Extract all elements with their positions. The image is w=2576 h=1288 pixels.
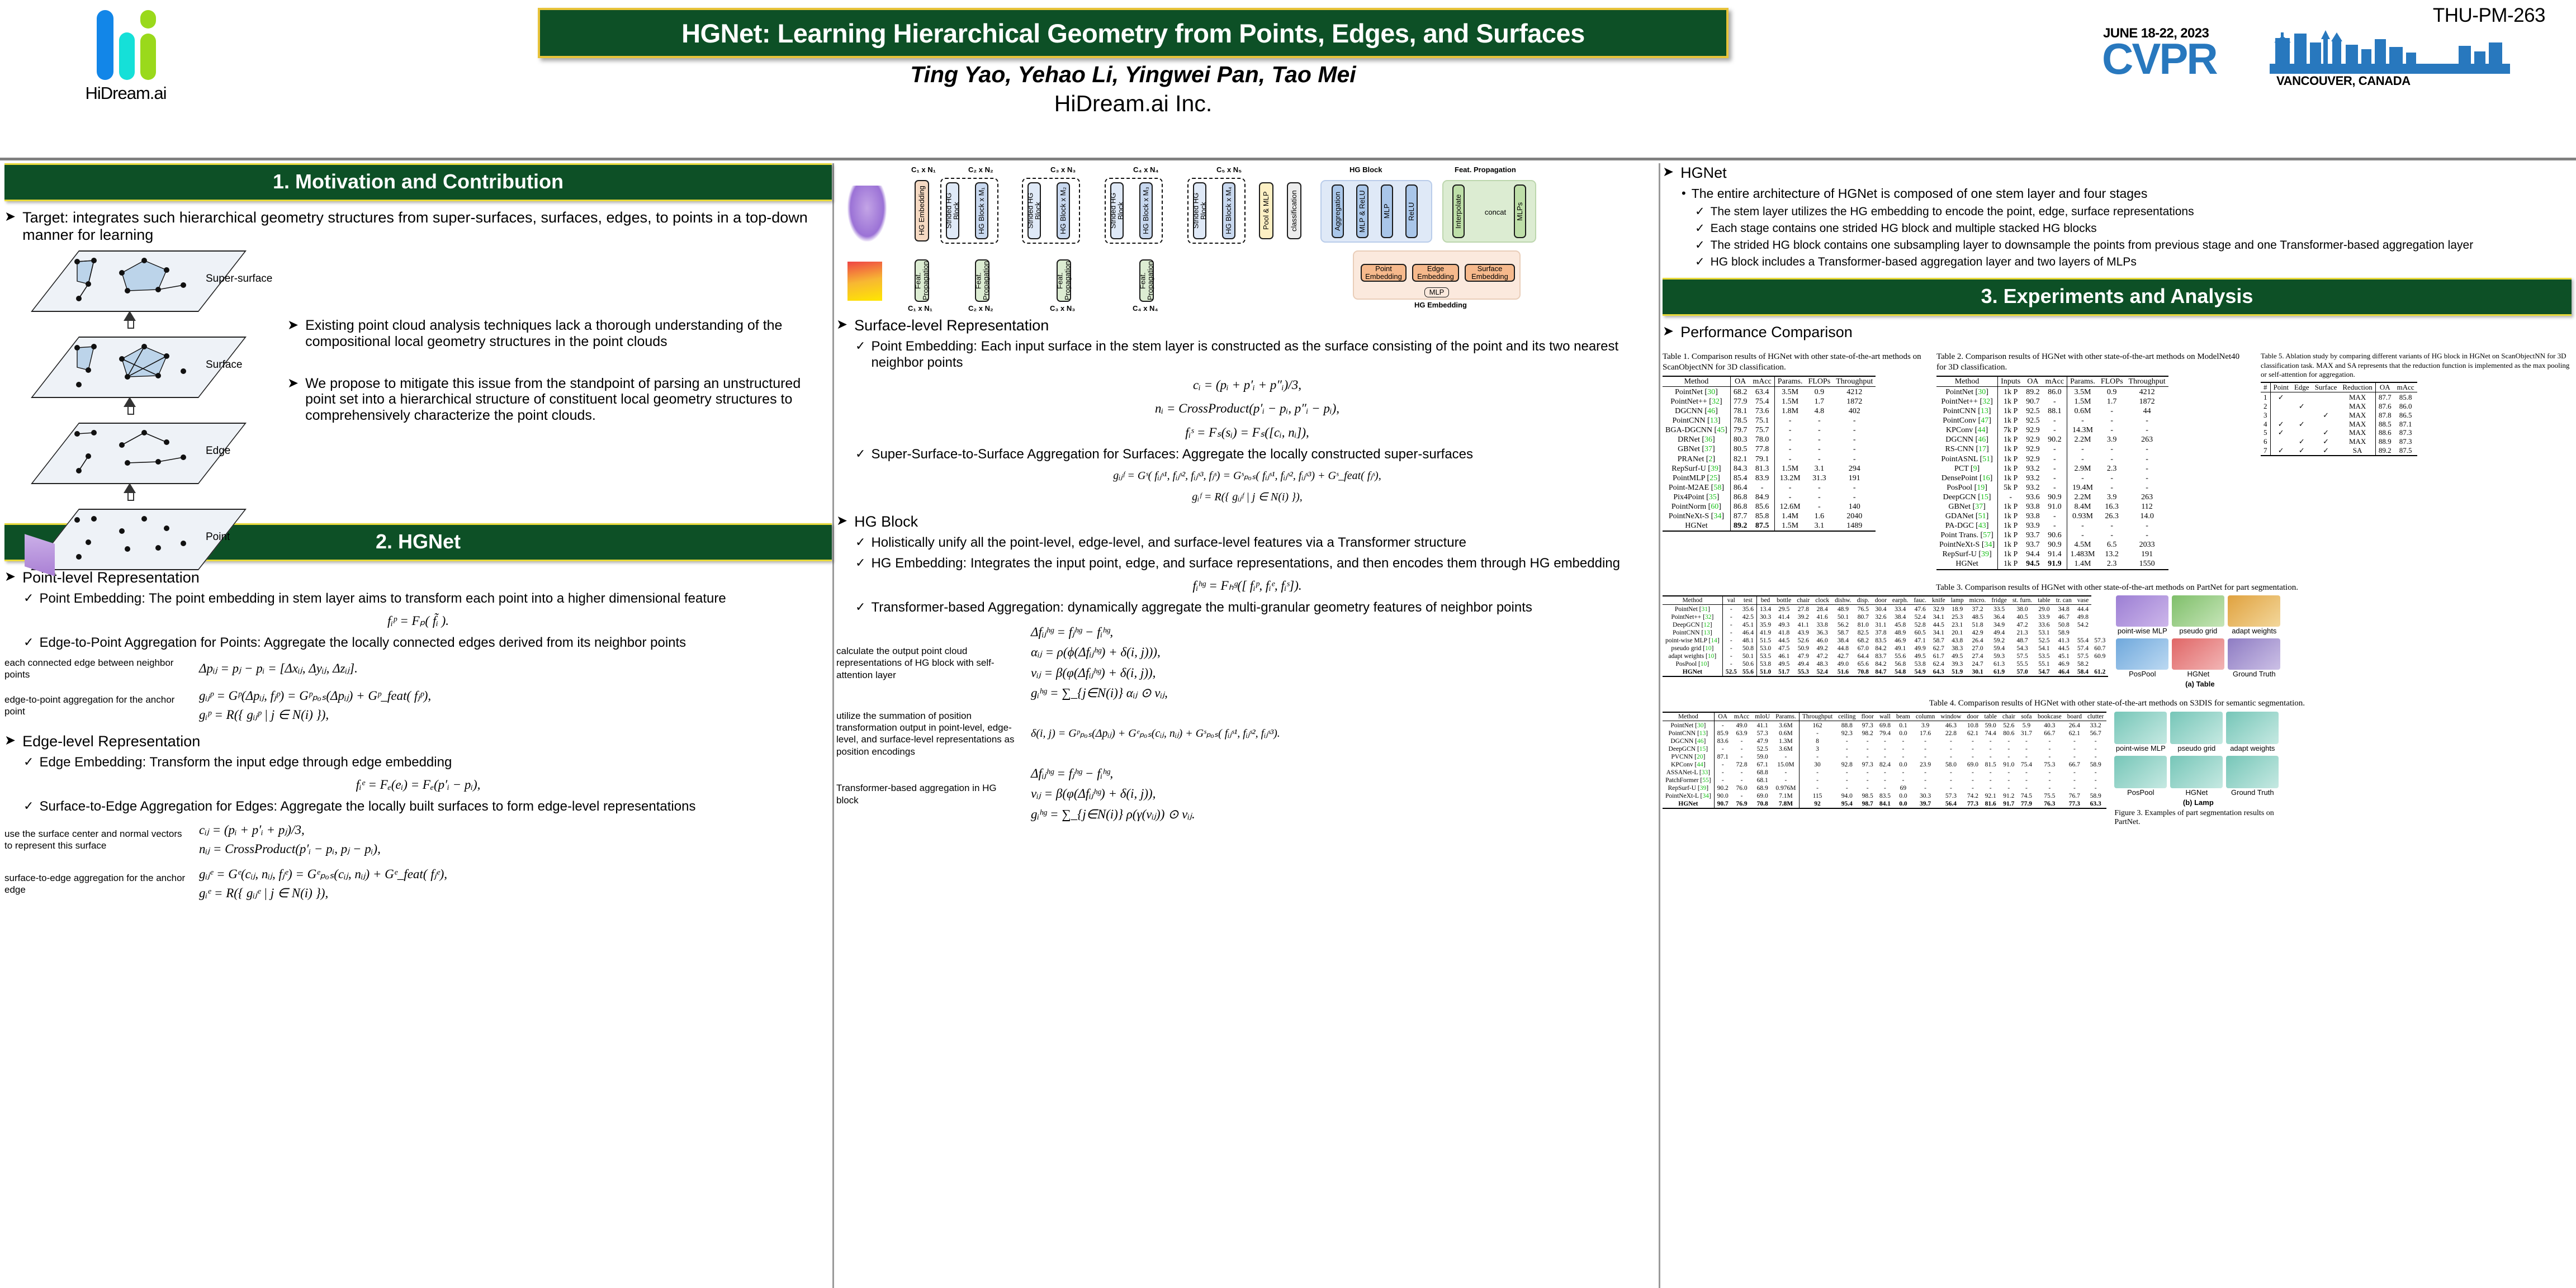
- arrow-bullet-icon: ➤: [1663, 164, 1674, 182]
- annotation-surface-to-edge-agg: surface-to-edge aggregation for the anch…: [4, 872, 189, 896]
- bullet-each-stage: ✓ Each stage contains one strided HG blo…: [1695, 221, 2572, 235]
- table-row: 1✓MAX87.785.8: [2261, 392, 2417, 402]
- table-row: KPConv [44]7k P92.9-14.3M--: [1936, 425, 2168, 435]
- equation-row-surface-center: use the surface center and normal vector…: [4, 821, 832, 859]
- table-row: PCT [9]1k P93.2-2.9M2.3-: [1936, 464, 2168, 473]
- logo-label: HiDream.ai: [53, 83, 198, 103]
- table-row: RepSurf-U [39]90.276.068.90.976M----69--…: [1663, 784, 2106, 792]
- table-row: RepSurf-U [39]1k P94.491.41.483M13.2191: [1936, 550, 2168, 559]
- logo-bar-blue: [97, 10, 113, 80]
- arch-strided-3: Strided HG Block: [1110, 182, 1124, 239]
- annotation-edge-to-point-agg: edge-to-point aggregation for the anchor…: [4, 694, 189, 718]
- up-arrow-2-icon: [127, 406, 134, 415]
- bullet-hgnet-text: HGNet: [1680, 164, 1727, 182]
- arch-featprop-2: Feat. Propagation: [975, 259, 989, 302]
- bullet-point-level: ➤ Point-level Representation: [4, 569, 832, 586]
- arch-cap-bot-2: C₂ x N₂: [968, 304, 993, 312]
- equation-b3: gᵢʰᵍ = ∑_{j∈N(i)} ρ(γ(vᵢⱼ)) ⊙ vᵢⱼ.: [1031, 805, 1195, 825]
- partseg-figure-lamp: point-wise MLP pseudo grid adapt weights…: [2114, 712, 2282, 827]
- logo-bar-green: [140, 34, 156, 80]
- arch-classification: classification: [1287, 182, 1301, 239]
- table-row: PointNet++ [32]1k P90.7-1.5M1.71872: [1936, 397, 2168, 406]
- bullet-existing-text: Existing point cloud analysis techniques…: [305, 318, 832, 350]
- table2-wrapper: Table 2. Comparison results of HGNet wit…: [1936, 350, 2250, 570]
- page-title: HGNet: Learning Hierarchical Geometry fr…: [681, 18, 1585, 49]
- arch-detail-interpolate: Interpolate: [1452, 184, 1465, 238]
- bullet-target-text: Target: integrates such hierarchical geo…: [22, 209, 832, 244]
- bullet-stem-layer: ✓ The stem layer utilizes the HG embeddi…: [1695, 205, 2572, 219]
- table-row: 7✓✓✓SA89.287.5: [2261, 446, 2417, 456]
- bullet-hg-embedding: ✓ HG Embedding: Integrates the input poi…: [855, 556, 1658, 572]
- arrow-bullet-icon: ➤: [1663, 324, 1674, 341]
- bullet-surface-level: ➤ Surface-level Representation: [836, 317, 1658, 334]
- equation-gij-f: gᵢⱼᶠ = Gˢ( fᵢⱼˢ¹, fᵢⱼˢ², fᵢⱼˢ³, fⱼˢ) = G…: [836, 467, 1658, 484]
- table-row: PointCNN [13]78.575.1---: [1663, 416, 1876, 425]
- partfig-row-label-2: HGNet: [2172, 670, 2224, 678]
- equation-ni: nᵢ = CrossProduct(p′ᵢ − pᵢ, p″ᵢ − pᵢ),: [836, 399, 1658, 419]
- arch-cap-top-5: C₅ x N₅: [1216, 165, 1242, 174]
- arch-strided-4: Strided HG Block: [1193, 182, 1206, 239]
- equation-row-surface-to-edge-agg: surface-to-edge aggregation for the anch…: [4, 865, 832, 903]
- equation-fis: fᵢˢ = Fₛ(sᵢ) = Fₛ([cᵢ, nᵢ]),: [836, 423, 1658, 443]
- table3-wrapper: Table 3. Comparison results of HGNet wit…: [1663, 583, 2572, 689]
- table-row: PointCNN [13]1k P92.588.10.6M-44: [1936, 406, 2168, 416]
- table-row: point-wise MLP [14]-48.151.544.552.646.0…: [1663, 637, 2108, 645]
- logo-bar-cyan: [119, 32, 135, 80]
- column-divider-2: [1659, 163, 1660, 1288]
- table-row: DeepGCN [15]--52.53.6M3-------------: [1663, 745, 2106, 753]
- table-row: PatchFormer [55]--68.1---------------: [1663, 776, 2106, 784]
- arch-point-embedding: Point Embedding: [1361, 264, 1407, 282]
- point-cloud-icon: [55, 509, 228, 571]
- table-row: 5✓✓MAX88.687.3: [2261, 428, 2417, 437]
- table-row: PointNet [30]1k P89.286.03.5M0.94212: [1936, 387, 2168, 397]
- bullet-point-embedding-text: Point Embedding: The point embedding in …: [39, 591, 726, 607]
- check-bullet-icon: ✓: [855, 600, 865, 616]
- arch-detail-mlp: MLP: [1381, 184, 1393, 238]
- check-bullet-icon: ✓: [23, 799, 34, 815]
- partseg-figure: point-wise MLP pseudo grid adapt weights…: [2116, 595, 2284, 688]
- column-2: C₁ x N₁ C₂ x N₂ C₃ x N₃ C₄ x N₄ C₅ x N₅ …: [836, 163, 1658, 831]
- bullet-transformer-agg: ✓ Transformer-based Aggregation: dynamic…: [855, 600, 1658, 616]
- table-row: PointNeXt-L [34]90.0-69.07.1M11594.098.5…: [1663, 792, 2106, 800]
- arch-featprop-3: Feat. Propagation: [1057, 259, 1071, 302]
- table-row: 3✓MAX87.886.5: [2261, 411, 2417, 420]
- bullet-super-to-surface-text: Super-Surface-to-Surface Aggregation for…: [871, 447, 1473, 463]
- arch-featprop-4: Feat. Propagation: [1139, 259, 1154, 302]
- section-header-experiments: 3. Experiments and Analysis: [1663, 278, 2572, 316]
- table-row: PRANet [2]82.179.1---: [1663, 454, 1876, 464]
- partfig2-row-label-3: Ground Truth: [2226, 788, 2279, 797]
- arch-cap-top-1: C₁ x N₁: [911, 165, 936, 174]
- bullet-edge-embedding: ✓ Edge Embedding: Transform the input ed…: [23, 755, 832, 771]
- equation-t4: gᵢʰᵍ = ∑_{j∈N(i)} αᵢⱼ ⊙ vᵢⱼ,: [1031, 684, 1168, 703]
- bullet-strided-block: ✓ The strided HG block contains one subs…: [1695, 238, 2572, 252]
- table-row: PA-DGC [43]1k P93.9----: [1936, 521, 2168, 531]
- table-row: DGCNN [46]78.173.61.8M4.8402: [1663, 406, 1876, 416]
- equation-row-hgblock-agg: Transformer-based aggregation in HG bloc…: [836, 763, 1658, 826]
- bullet-hgnet-arch: • The entire architecture of HGNet is co…: [1682, 186, 2572, 202]
- check-bullet-icon: ✓: [23, 591, 34, 607]
- architecture-figure: C₁ x N₁ C₂ x N₂ C₃ x N₃ C₄ x N₄ C₅ x N₅ …: [836, 165, 1647, 308]
- partfig-col-label-2: pseudo grid: [2172, 627, 2224, 635]
- bullet-existing: ➤ Existing point cloud analysis techniqu…: [287, 318, 832, 350]
- table-row: RepSurf-U [39]84.381.31.5M3.1294: [1663, 464, 1876, 473]
- partfig-row-label-1: PosPool: [2116, 670, 2168, 678]
- partfig-col-label-1: point-wise MLP: [2116, 627, 2168, 635]
- table-row: GBNet [37]1k P93.891.08.4M16.3112: [1936, 502, 2168, 512]
- partfig-row-label-3: Ground Truth: [2228, 670, 2280, 678]
- table1: MethodOAmAccParams.FLOPsThroughputPointN…: [1663, 376, 1876, 532]
- table-row: PointNet++ [32]77.975.41.5M1.71872: [1663, 397, 1876, 406]
- table1-caption: Table 1. Comparison results of HGNet wit…: [1663, 352, 1925, 373]
- equation-fhg: fᵢʰᵍ = Fₕᵍ([ fᵢᵖ, fᵢᵉ, fᵢˢ]).: [836, 576, 1658, 596]
- table5-wrapper: Table 5. Ablation study by comparing dif…: [2261, 350, 2572, 456]
- check-bullet-icon: ✓: [23, 635, 34, 651]
- figure3-caption: Figure 3. Examples of part segmentation …: [2114, 809, 2282, 827]
- logo-dot-green: [140, 10, 156, 29]
- arrow-bullet-icon: ➤: [836, 317, 847, 334]
- equation-point-embedding: fᵢᵖ = Fₚ( f̃ᵢ ).: [4, 612, 832, 631]
- arch-featprop-1: Feat. Propagation: [915, 259, 929, 302]
- partfig2-col-label-2: pseudo grid: [2170, 744, 2223, 752]
- skyline-icon: [2270, 30, 2510, 74]
- table-row: RS-CNN [17]1k P92.9----: [1936, 444, 2168, 454]
- table-row: HGNet1k P94.591.91.4M2.31550: [1936, 559, 2168, 569]
- arrow-bullet-icon: ➤: [287, 318, 299, 350]
- arch-detail-mlps: MLPs: [1514, 184, 1526, 238]
- bullet-strided-block-text: The strided HG block contains one subsam…: [1711, 238, 2474, 252]
- check-bullet-icon: ✓: [1695, 238, 1705, 252]
- arch-cap-top-2: C₂ x N₂: [968, 165, 993, 174]
- table-row: PosPool [10]-50.653.849.549.448.349.065.…: [1663, 660, 2108, 668]
- bullet-hg-block: ➤ HG Block: [836, 513, 1658, 531]
- table-row: DensePoint [16]1k P93.2----: [1936, 473, 2168, 483]
- table-row: PointNorm [60]86.885.612.6M-140: [1663, 502, 1876, 512]
- section-header-motivation: 1. Motivation and Contribution: [4, 163, 832, 201]
- check-bullet-icon: ✓: [1695, 205, 1705, 219]
- partfig-sub-a: (a) Table: [2116, 680, 2284, 688]
- table-row: 2✓MAX87.686.0: [2261, 402, 2417, 411]
- dot-bullet-icon: •: [1682, 186, 1686, 202]
- equation-delta-ij: δ(i, j) = Gᵖₚₒₛ(Δpᵢⱼ) + Gᵉₚₒₛ(cᵢⱼ, nᵢⱼ) …: [1031, 725, 1658, 742]
- annotation-hgblock-agg: Transformer-based aggregation in HG bloc…: [836, 782, 1021, 806]
- equation-nij: nᵢⱼ = CrossProduct(p′ᵢ − pᵢ, pⱼ − pᵢ),: [199, 840, 381, 859]
- table-row: PointNet [30]-49.041.13.6M16288.897.369.…: [1663, 721, 2106, 730]
- annotation-selfattention: calculate the output point cloud represe…: [836, 645, 1021, 681]
- arch-detail-relu: ReLU: [1405, 184, 1418, 238]
- cvpr-city: VANCOUVER, CANADA: [2276, 74, 2411, 88]
- bullet-super-to-surface: ✓ Super-Surface-to-Surface Aggregation f…: [855, 447, 1658, 463]
- bullet-surface-to-edge: ✓ Surface-to-Edge Aggregation for Edges:…: [23, 799, 832, 815]
- edge-graph-icon: [55, 423, 228, 485]
- table-row: PosPool [19]5k P93.2-19.4M--: [1936, 483, 2168, 493]
- arch-hgblock-2: HG Block x M₂: [1057, 182, 1070, 239]
- table-row: PointASNL [51]1k P92.9----: [1936, 454, 2168, 464]
- partfig-sub-b: (b) Lamp: [2114, 798, 2282, 807]
- arch-edge-embedding: Edge Embedding: [1412, 264, 1459, 282]
- arrow-bullet-icon: ➤: [4, 569, 16, 586]
- bullet-surface-point-embedding-text: Point Embedding: Each input surface in t…: [871, 339, 1658, 371]
- bullet-hg-block-detail-text: HG block includes a Transformer-based ag…: [1711, 255, 2137, 269]
- column-divider-1: [832, 163, 834, 1288]
- poster-header: HiDream.ai HGNet: Learning Hierarchical …: [0, 0, 2576, 162]
- bullet-edge-to-point: ✓ Edge-to-Point Aggregation for Points: …: [23, 635, 832, 651]
- bullet-hg-unify-text: Holistically unify all the point-level, …: [871, 535, 1466, 551]
- table-row: HGNet89.287.51.5M3.11489: [1663, 521, 1876, 531]
- arch-detail-mlp-relu: MLP & ReLU: [1356, 184, 1368, 238]
- column-1: 1. Motivation and Contribution ➤ Target:…: [4, 163, 832, 909]
- author-list: Ting Yao, Yehao Li, Yingwei Pan, Tao Mei: [538, 61, 1729, 88]
- bullet-edge-to-point-text: Edge-to-Point Aggregation for Points: Ag…: [39, 635, 686, 651]
- equation-b2: vᵢⱼ = β(φ(Δfᵢⱼʰᵍ) + δ(i, j)),: [1031, 784, 1195, 804]
- arrow-bullet-icon: ➤: [4, 209, 16, 244]
- table-row: PointCNN [13]-46.441.941.843.936.358.782…: [1663, 629, 2108, 637]
- cvpr-logo: JUNE 18-22, 2023 CVPR VANCOUVER, CANADA: [2102, 25, 2510, 86]
- table-row: KPConv [44]-72.867.115.0M3092.897.382.40…: [1663, 761, 2106, 769]
- bullet-propose-text: We propose to mitigate this issue from t…: [305, 376, 832, 424]
- table5-caption: Table 5. Ablation study by comparing dif…: [2261, 352, 2572, 379]
- arch-mlp: MLP: [1424, 287, 1449, 297]
- table4-caption: Table 4. Comparison results of HGNet wit…: [1663, 698, 2572, 709]
- output-segmentation-icon: [847, 262, 882, 301]
- annotation-connected-edge: each connected edge between neighbor poi…: [4, 657, 189, 681]
- arch-hgblock-1: HG Block x M₁: [975, 182, 988, 239]
- equation-delta-p: Δpᵢⱼ = pⱼ − pᵢ = [Δxᵢⱼ, Δyᵢⱼ, Δzᵢⱼ].: [199, 659, 832, 679]
- check-bullet-icon: ✓: [1695, 221, 1705, 235]
- bullet-performance-text: Performance Comparison: [1680, 324, 1853, 341]
- table-row: PointNeXt-S [34]87.785.81.4M1.62040: [1663, 512, 1876, 521]
- table-row: HGNet90.776.970.87.8M9295.498.784.10.039…: [1663, 800, 2106, 808]
- equation-row-selfattention: calculate the output point cloud represe…: [836, 622, 1658, 704]
- super-surface-graph-icon: [55, 250, 228, 313]
- bullet-stem-layer-text: The stem layer utilizes the HG embedding…: [1711, 205, 2194, 219]
- partfig2-row-label-1: PosPool: [2114, 788, 2167, 797]
- table-row: pseudo grid [10]-50.853.047.550.949.244.…: [1663, 645, 2108, 652]
- table-row: PointNeXt-S [34]1k P93.790.94.5M6.52033: [1936, 540, 2168, 550]
- bullet-hg-block-text: HG Block: [854, 513, 918, 531]
- table-row: BGA-DGCNN [45]79.775.7---: [1663, 425, 1876, 435]
- bullet-hgnet-arch-text: The entire architecture of HGNet is comp…: [1692, 186, 2148, 202]
- arch-detail-aggregation: Aggregation: [1332, 184, 1344, 238]
- check-bullet-icon: ✓: [855, 447, 865, 463]
- bullet-surface-to-edge-text: Surface-to-Edge Aggregation for Edges: A…: [39, 799, 695, 815]
- bullet-transformer-agg-text: Transformer-based Aggregation: dynamical…: [871, 600, 1532, 616]
- table-row: PVCNN [20]87.1-59.0---------------: [1663, 753, 2106, 761]
- annotation-surface-center: use the surface center and normal vector…: [4, 828, 189, 852]
- arch-cap-bot-4: C₄ x N₄: [1133, 304, 1158, 312]
- table-row: Point-M2AE [58]86.4----: [1663, 483, 1876, 493]
- table-row: DRNet [36]80.378.0---: [1663, 435, 1876, 444]
- table-row: DeepGCN [15]-93.690.92.2M3.9263: [1936, 493, 2168, 502]
- partfig-col-label-3: adapt weights: [2228, 627, 2280, 635]
- arch-cap-top-3: C₃ x N₃: [1050, 165, 1076, 174]
- table-row: adapt weights [10]-50.153.546.147.947.24…: [1663, 652, 2108, 660]
- poster-id: THU-PM-263: [2433, 4, 2545, 27]
- table-row: DGCNN [46]83.6-47.91.3M8-------------: [1663, 737, 2106, 745]
- table3: Methodvaltestbedbottlechairclockdishw.di…: [1663, 595, 2108, 677]
- bullet-edge-level: ➤ Edge-level Representation: [4, 733, 832, 750]
- equation-row-delta-p: each connected edge between neighbor poi…: [4, 657, 832, 681]
- table-row: Point Trans. [57]1k P93.790.6---: [1936, 531, 2168, 540]
- bullet-point-embedding: ✓ Point Embedding: The point embedding i…: [23, 591, 832, 607]
- table2-caption: Table 2. Comparison results of HGNet wit…: [1936, 352, 2250, 373]
- equation-row-position-encoding: utilize the summation of position transf…: [836, 710, 1658, 757]
- equation-gij-p: gᵢⱼᵖ = Gᵖ(Δpᵢⱼ, fⱼᵖ) = Gᵖₚₒₛ(Δpᵢⱼ) + Gᵖ_…: [199, 686, 431, 706]
- table-row: ASSANet-L [33]--68.8---------------: [1663, 769, 2106, 776]
- bullet-surface-point-embedding: ✓ Point Embedding: Each input surface in…: [855, 339, 1658, 371]
- table-row: PointNet [30]68.263.43.5M0.94212: [1663, 387, 1876, 397]
- bullet-edge-level-text: Edge-level Representation: [22, 733, 200, 750]
- equation-b1: Δfᵢⱼʰᵍ = fⱼʰᵍ − fᵢʰᵍ,: [1031, 764, 1195, 784]
- table-row: 6✓✓MAX88.987.3: [2261, 437, 2417, 446]
- bullet-hg-embedding-text: HG Embedding: Integrates the input point…: [871, 556, 1620, 572]
- equation-row-edge-to-point-agg: edge-to-point aggregation for the anchor…: [4, 686, 832, 725]
- poster-title-banner: HGNet: Learning Hierarchical Geometry fr…: [538, 8, 1729, 58]
- arch-cap-top-4: C₄ x N₄: [1133, 165, 1159, 174]
- table-row: PointMLP [25]85.483.913.2M31.3191: [1663, 473, 1876, 483]
- table-row: PointNet++ [32]-42.530.341.439.241.650.1…: [1663, 613, 2108, 621]
- hidream-logo-icon: [87, 4, 165, 80]
- table2: MethodInputsOAmAccParams.FLOPsThroughput…: [1936, 376, 2168, 570]
- bullet-propose: ➤ We propose to mitigate this issue from…: [287, 376, 832, 424]
- check-bullet-icon: ✓: [855, 339, 865, 371]
- arch-pool-mlp: Pool & MLP: [1259, 182, 1273, 239]
- table-row: GDANet [51]1k P93.8-0.93M26.314.0: [1936, 512, 2168, 521]
- bullet-each-stage-text: Each stage contains one strided HG block…: [1711, 221, 2097, 235]
- check-bullet-icon: ✓: [855, 535, 865, 551]
- equation-gi-p: gᵢᵖ = R({ gᵢⱼᵖ | j ∈ N(i) }),: [199, 705, 431, 725]
- equation-gi-f: gᵢᶠ = R({ gᵢⱼᶠ | j ∈ N(i) }),: [836, 489, 1658, 505]
- check-bullet-icon: ✓: [23, 755, 34, 771]
- hidream-logo: HiDream.ai: [53, 4, 198, 103]
- table-row: 4✓✓MAX88.587.1: [2261, 420, 2417, 429]
- up-arrow-3-icon: [127, 492, 134, 501]
- equation-t3: vᵢⱼ = β(φ(Δfᵢⱼʰᵍ) + δ(i, j)),: [1031, 664, 1168, 683]
- table1-wrapper: Table 1. Comparison results of HGNet wit…: [1663, 350, 1925, 532]
- check-bullet-icon: ✓: [1695, 255, 1705, 269]
- arrow-bullet-icon: ➤: [287, 376, 299, 424]
- table4: MethodOAmAccmIoUParams.Throughputceiling…: [1663, 712, 2106, 809]
- bullet-performance: ➤ Performance Comparison: [1663, 324, 2572, 341]
- arch-hg-embedding: HG Embedding: [915, 180, 929, 241]
- table-row: DeepGCN [12]-45.135.949.341.133.856.281.…: [1663, 621, 2108, 629]
- cvpr-wordmark: CVPR: [2102, 37, 2217, 80]
- annotation-position-encoding: utilize the summation of position transf…: [836, 710, 1021, 757]
- equation-edge-embedding: fᵢᵉ = Fₑ(eᵢ) = Fₑ(p′ᵢ − pᵢ),: [4, 775, 832, 795]
- partfig2-row-label-2: HGNet: [2170, 788, 2223, 797]
- arrow-bullet-icon: ➤: [4, 733, 16, 750]
- bullet-hg-unify: ✓ Holistically unify all the point-level…: [855, 535, 1658, 551]
- arrow-bullet-icon: ➤: [836, 513, 847, 531]
- equation-cij: cᵢⱼ = (pᵢ + p′ᵢ + pⱼ)/3,: [199, 821, 381, 840]
- arch-surface-embedding: Surface Embedding: [1465, 264, 1515, 282]
- arch-detail-concat: concat: [1479, 207, 1512, 218]
- arch-featprop-title: Feat. Propagation: [1455, 165, 1516, 174]
- bullet-hg-block-detail: ✓ HG block includes a Transformer-based …: [1695, 255, 2572, 269]
- partfig2-col-label-1: point-wise MLP: [2114, 744, 2167, 752]
- table-row: PointCNN [13]85.963.957.30.6M-92.398.279…: [1663, 730, 2106, 737]
- column-3: ➤ HGNet • The entire architecture of HGN…: [1663, 163, 2572, 827]
- bullet-target: ➤ Target: integrates such hierarchical g…: [4, 209, 832, 244]
- arch-strided-1: Strided HG Block: [946, 182, 959, 239]
- table-row: PointConv [47]1k P92.5----: [1936, 416, 2168, 425]
- surface-graph-icon: [55, 337, 228, 399]
- input-point-cloud-icon: [847, 186, 887, 241]
- arch-hgblock-title: HG Block: [1349, 165, 1382, 174]
- arch-strided-2: Strided HG Block: [1027, 182, 1041, 239]
- table-row: HGNet52.555.651.051.755.352.451.670.884.…: [1663, 668, 2108, 676]
- arch-cap-bot-1: C₁ x N₁: [908, 304, 932, 312]
- equation-gij-e: gᵢⱼᵉ = Gᵉ(cᵢⱼ, nᵢⱼ, fⱼᵉ) = Gᵉₚₒₛ(cᵢⱼ, nᵢ…: [199, 865, 447, 884]
- table-row: Pix4Point [35]86.884.9---: [1663, 493, 1876, 502]
- table4-wrapper: Table 4. Comparison results of HGNet wit…: [1663, 698, 2572, 827]
- arch-hgblock-4: HG Block x M₄: [1222, 182, 1235, 239]
- table-row: GBNet [37]80.577.8---: [1663, 444, 1876, 454]
- up-arrow-1-icon: [127, 320, 134, 329]
- hierarchy-figure: Super-surface Surface Edge: [21, 248, 284, 517]
- affiliation: HiDream.ai Inc.: [538, 91, 1729, 117]
- check-bullet-icon: ✓: [855, 556, 865, 572]
- table3-caption: Table 3. Comparison results of HGNet wit…: [1663, 583, 2572, 593]
- arch-hgblock-3: HG Block x M₃: [1139, 182, 1153, 239]
- equation-gi-e: gᵢᵉ = R({ gᵢⱼᵉ | j ∈ N(i) }),: [199, 884, 447, 903]
- equation-t1: Δfᵢⱼʰᵍ = fⱼʰᵍ − fᵢʰᵍ,: [1031, 623, 1168, 642]
- table5: #PointEdgeSurfaceReductionOAmAcc1✓MAX87.…: [2261, 382, 2417, 456]
- partfig2-col-label-3: adapt weights: [2226, 744, 2279, 752]
- bullet-surface-level-text: Surface-level Representation: [854, 317, 1049, 334]
- header-divider: [0, 158, 2576, 160]
- arch-cap-bot-3: C₃ x N₃: [1050, 304, 1075, 312]
- bullet-hgnet: ➤ HGNet: [1663, 164, 2572, 182]
- table-row: DGCNN [46]1k P92.990.22.2M3.9263: [1936, 435, 2168, 444]
- equation-t2: αᵢⱼ = ρ(ϕ(Δfᵢⱼʰᵍ) + δ(i, j))),: [1031, 643, 1168, 662]
- equation-ci: cᵢ = (pᵢ + p′ᵢ + p″ᵢ)/3,: [836, 376, 1658, 395]
- bullet-edge-embedding-text: Edge Embedding: Transform the input edge…: [39, 755, 452, 771]
- arch-hgembedding-title: HG Embedding: [1414, 301, 1467, 309]
- table-row: PointNet [31]-35.613.429.527.828.448.976…: [1663, 605, 2108, 614]
